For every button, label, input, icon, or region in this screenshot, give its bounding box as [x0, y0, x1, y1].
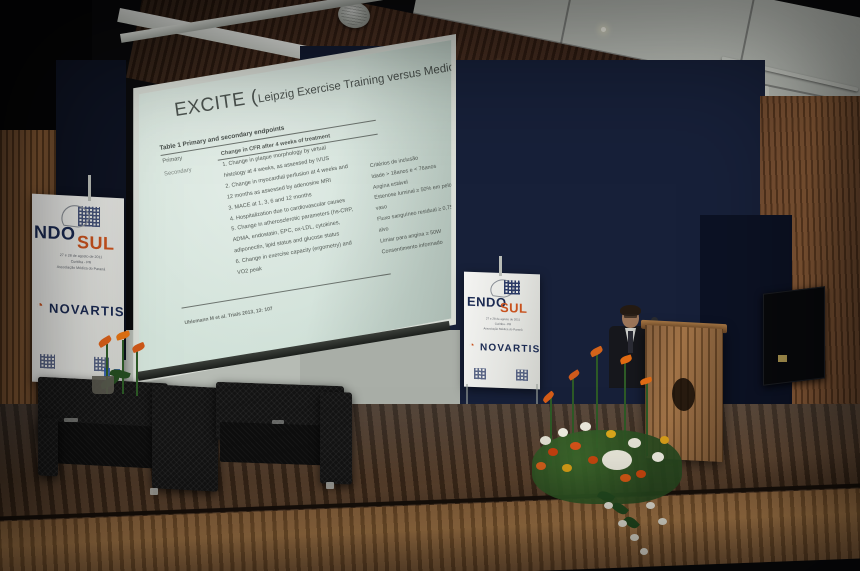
banner-left-sponsor: NOVARTIS [49, 300, 125, 319]
slide-title-main: EXCITE ( [173, 87, 259, 121]
banner-right-pole [499, 256, 502, 276]
flower-red [548, 448, 558, 456]
flower-orange [542, 391, 556, 404]
flower-white [580, 422, 591, 431]
flower-white [604, 502, 613, 509]
wall-mounted-monitor [763, 286, 825, 386]
armchair-trim [64, 418, 78, 422]
inclusion-line: Angina estável [372, 179, 408, 191]
slide-content: EXCITE (Leipzig Exercise Training versus… [148, 27, 500, 356]
banner-left-footer-logo-icon [40, 354, 55, 369]
banner-right-footer-logo-icon [516, 369, 528, 380]
armchair-left-seat [42, 421, 168, 470]
banner-right-logo-icon [504, 280, 520, 295]
armchair-left-arm [38, 417, 58, 476]
ceiling-downlight-icon [601, 27, 606, 32]
flower-yellow [660, 436, 669, 444]
speaker-glasses-icon [624, 314, 637, 318]
slide-secondary-endpoints: 1. Change in plaque morphology by virtua… [222, 136, 386, 279]
armchair-foot [150, 488, 158, 495]
armchair-foot [326, 482, 334, 489]
novartis-flame-icon: ◔ [36, 298, 43, 312]
flower-orange [131, 342, 146, 353]
flower-red [588, 456, 598, 464]
slide-row-label-secondary: Secondary [164, 167, 192, 177]
flower-white [630, 534, 639, 541]
flower-yellow [606, 430, 616, 438]
flower-orange [570, 442, 581, 450]
banner-right-org: Associação Médica do Paraná [472, 326, 534, 332]
flower-red [636, 470, 646, 478]
flower-white [628, 438, 641, 448]
endpoint-line: VO2 peak [237, 266, 262, 276]
flower-white [658, 518, 667, 525]
flower-orange [620, 474, 631, 482]
flower-orange [536, 462, 546, 470]
flower-orange [619, 354, 633, 364]
flower-white [640, 548, 648, 555]
flower-vase [92, 376, 114, 394]
banner-right-footer-logo-icon [474, 368, 486, 379]
conference-photo-scene: EXCITE (Leipzig Exercise Training versus… [0, 0, 860, 571]
banner-right-brand-sul: SUL [500, 300, 528, 316]
slide-row-label-primary: Primary [162, 156, 183, 165]
wall-indicator-lamp-icon [778, 355, 787, 362]
flower-orange [567, 369, 580, 380]
flower-yellow [562, 464, 572, 472]
banner-left-brand-endo: NDO [34, 222, 76, 245]
flower-white [652, 452, 664, 462]
banner-left-pole [88, 175, 91, 201]
novartis-flame-icon: ◔ [469, 340, 474, 350]
slide-citation: Uhlemann M et al. Trials 2013, 13: 107 [184, 306, 273, 326]
inclusion-line: alvo [378, 226, 389, 234]
flower-orange [639, 377, 652, 386]
flower-white-cluster [602, 450, 632, 470]
flower-white [540, 436, 551, 445]
armchair-left-arm-right [152, 384, 218, 491]
flower-white [558, 428, 568, 437]
flower-white [646, 502, 655, 509]
speaker-tie [628, 331, 633, 353]
armchair-trim [272, 420, 284, 424]
armchair-right-arm [320, 391, 352, 484]
flower-orange [97, 335, 113, 348]
inclusion-line: vaso [375, 204, 387, 212]
banner-left-brand-sul: SUL [77, 232, 115, 255]
floral-arrangement [528, 352, 688, 557]
flower-white [618, 520, 627, 527]
